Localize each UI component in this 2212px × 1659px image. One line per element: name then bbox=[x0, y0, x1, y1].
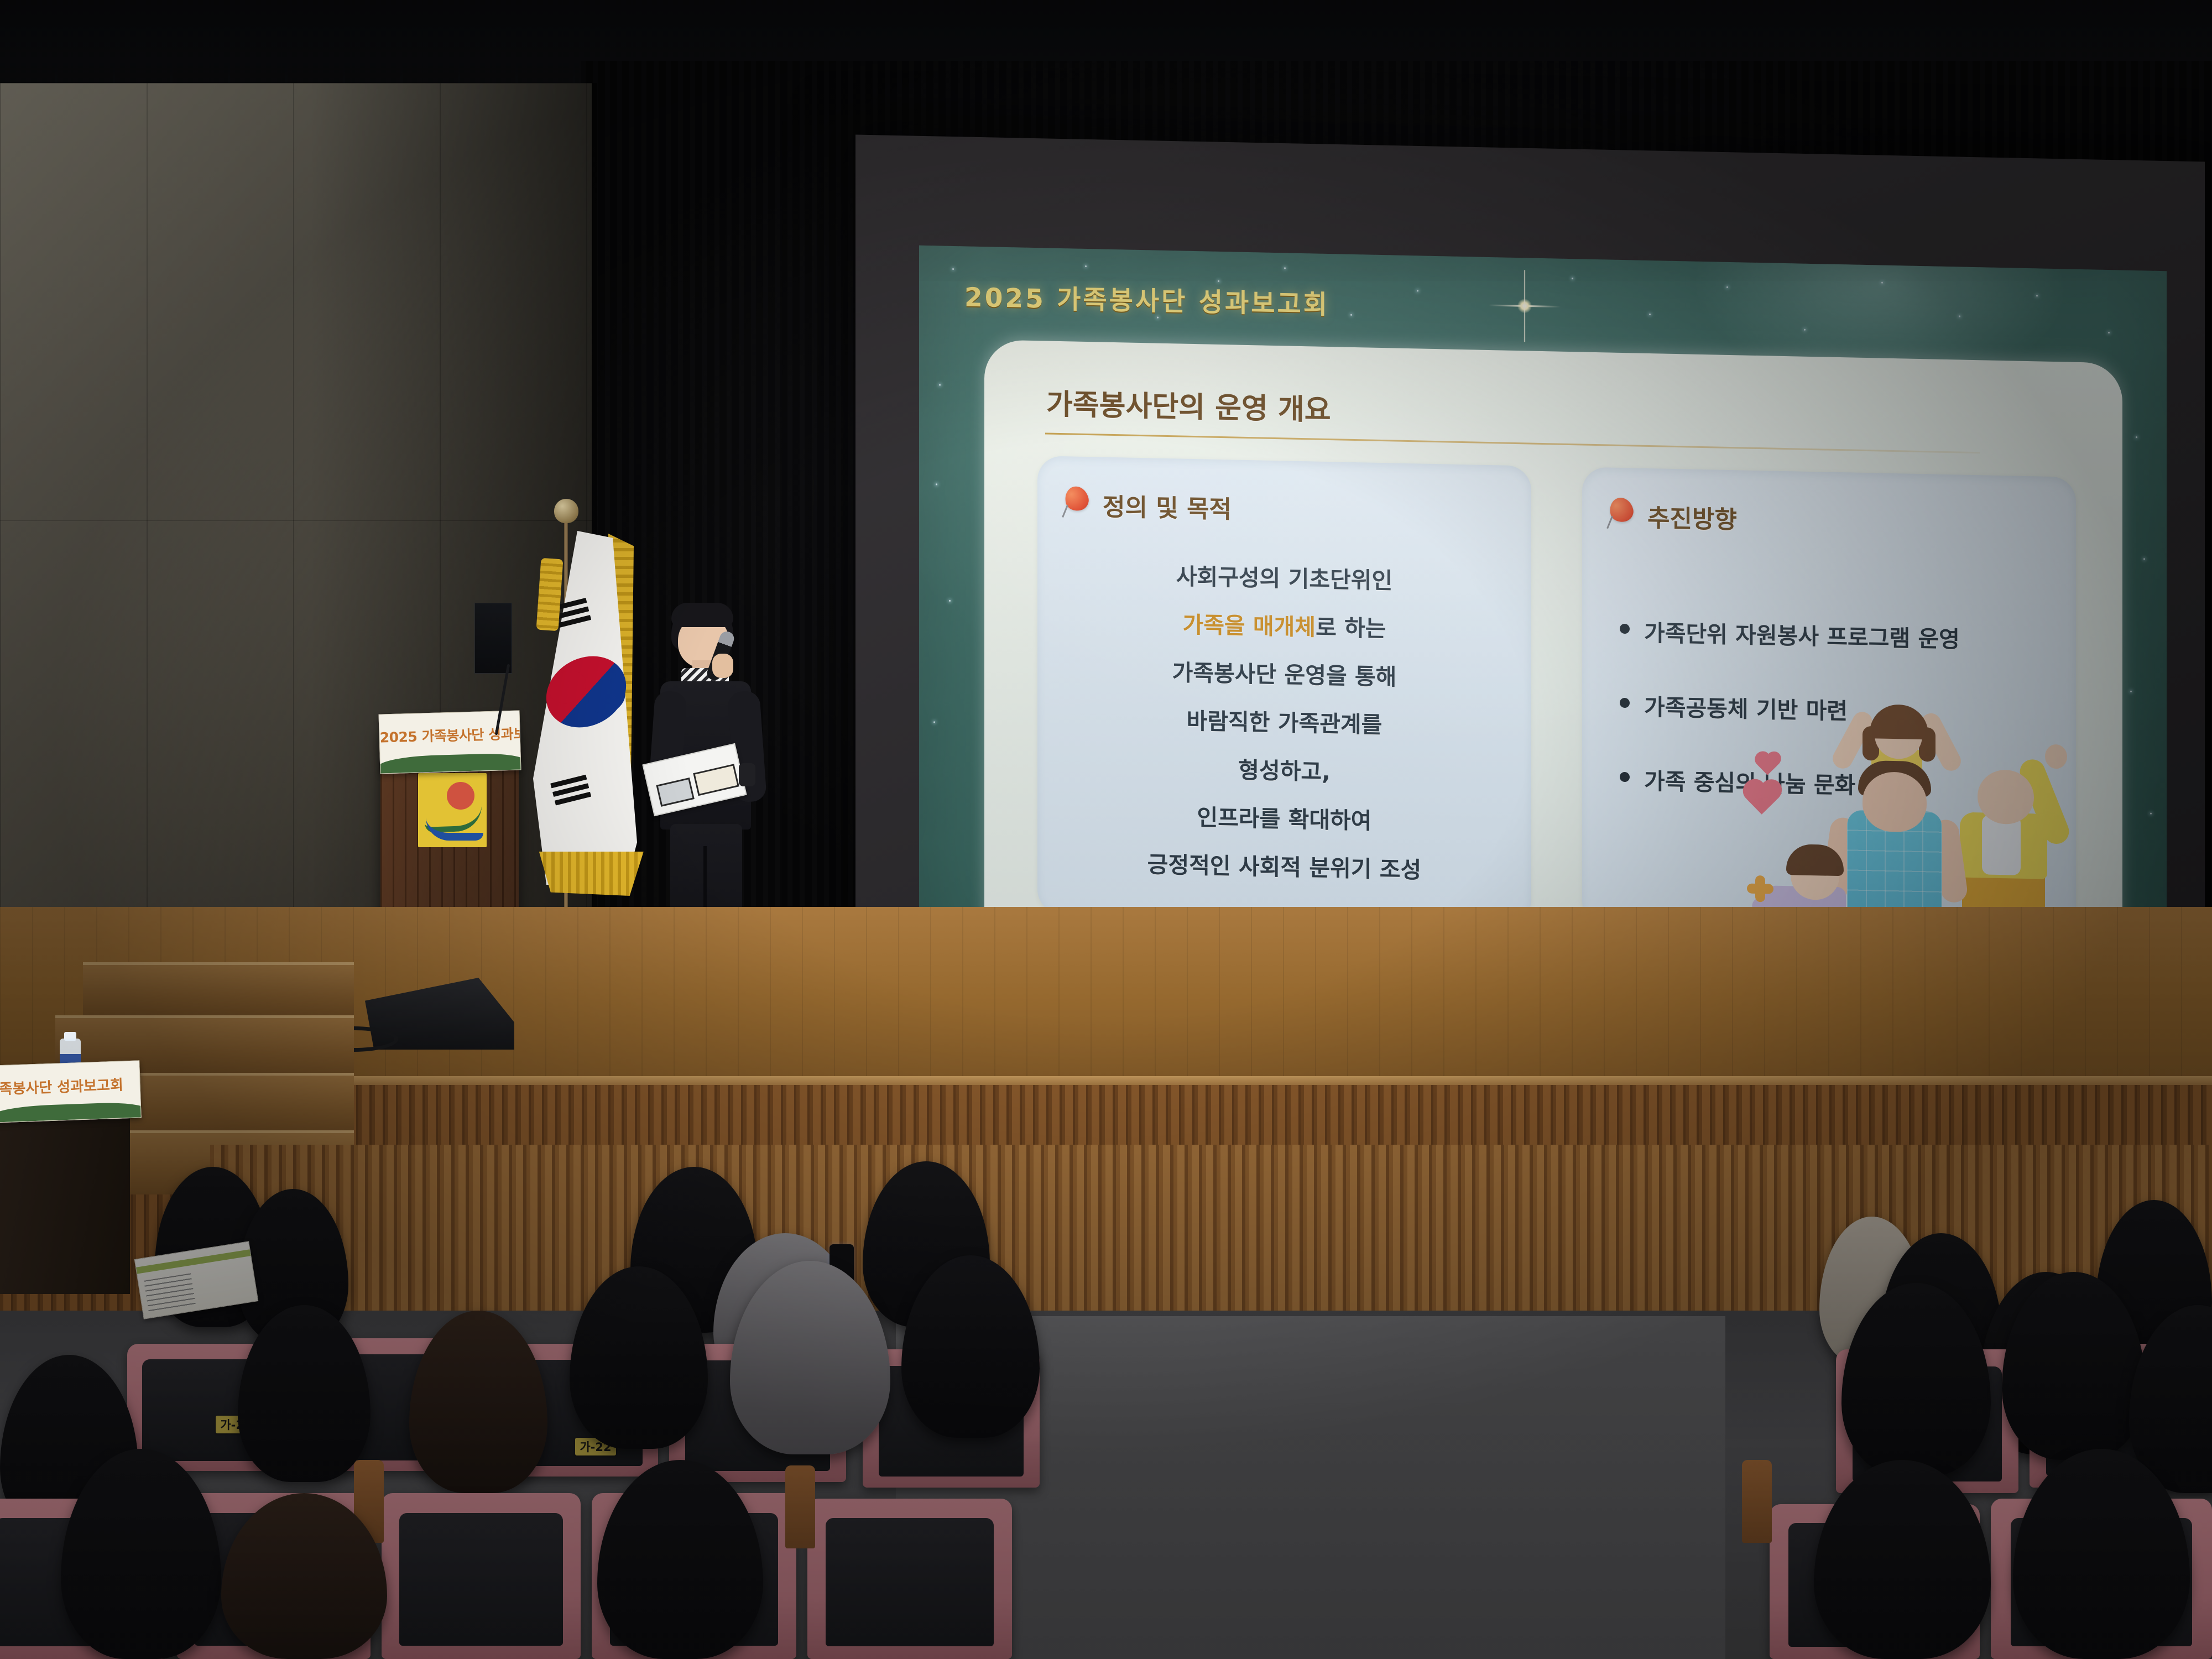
presentation-clicker bbox=[739, 763, 755, 786]
wall-panel-box bbox=[474, 603, 512, 674]
mother-shirt bbox=[1982, 815, 2021, 875]
auditorium-photo: 2025 가족봉사단 성과보고회 가족봉사단의 운영 개요 정의 및 목적 사회… bbox=[0, 0, 2212, 1659]
side-podium-banner-text: 족봉사단 성과보고회 bbox=[0, 1073, 142, 1099]
podium-emblem-plaque bbox=[418, 773, 487, 847]
pinwheel-icon bbox=[1745, 873, 1775, 904]
emblem-wave bbox=[426, 817, 483, 841]
card-definition-purpose: 정의 및 목적 사회구성의 기초단위인 가족을 매개체로 하는 가족봉사단 운영… bbox=[1037, 456, 1531, 924]
slide-section-heading: 가족봉사단의 운영 개요 bbox=[1046, 381, 1331, 429]
pushpin-icon bbox=[1606, 497, 1633, 533]
mother-head bbox=[1978, 769, 2034, 825]
slide-header-title: 2025 가족봉사단 성과보고회 bbox=[964, 275, 1329, 321]
heart-icon bbox=[1746, 783, 1778, 815]
seat[interactable] bbox=[807, 1499, 1012, 1659]
father-head bbox=[1863, 771, 1927, 832]
mother-hand bbox=[2045, 744, 2067, 769]
body-line-4: 바람직한 가족관계를 bbox=[1062, 707, 1507, 740]
sparkle-star-icon bbox=[1489, 269, 1561, 343]
family-illustration bbox=[1749, 698, 2076, 935]
slide-cards: 정의 및 목적 사회구성의 기초단위인 가족을 매개체로 하는 가족봉사단 운영… bbox=[1037, 456, 2076, 935]
armrest bbox=[785, 1465, 815, 1548]
slide-content-panel: 가족봉사단의 운영 개요 정의 및 목적 사회구성의 기초단위인 가족을 매개체… bbox=[984, 340, 2122, 961]
armrest bbox=[1742, 1460, 1772, 1543]
seat[interactable] bbox=[382, 1493, 581, 1659]
highlight-suffix: 로 하는 bbox=[1316, 614, 1386, 643]
presenter-hand bbox=[712, 654, 733, 678]
body-line-5: 형성하고, bbox=[1062, 755, 1507, 788]
projected-slide: 2025 가족봉사단 성과보고회 가족봉사단의 운영 개요 정의 및 목적 사회… bbox=[919, 246, 2167, 962]
girl-hair bbox=[1870, 704, 1928, 739]
heart-icon bbox=[1757, 754, 1779, 775]
card-header: 정의 및 목적 bbox=[1062, 486, 1507, 531]
body-line-2: 가족을 매개체로 하는 bbox=[1062, 611, 1507, 644]
body-line-3: 가족봉사단 운영을 통해 bbox=[1062, 659, 1507, 692]
list-item: 가족단위 자원봉사 프로그램 운영 bbox=[1620, 614, 2052, 656]
card-title: 추진방향 bbox=[1647, 498, 1737, 535]
heading-underline bbox=[1045, 432, 1980, 453]
flag-finial bbox=[554, 499, 578, 523]
card-title: 정의 및 목적 bbox=[1103, 487, 1232, 525]
step bbox=[83, 962, 354, 1015]
card-header: 추진방향 bbox=[1606, 497, 2052, 542]
side-podium-banner: 족봉사단 성과보고회 bbox=[0, 1060, 142, 1123]
pushpin-icon bbox=[1062, 486, 1088, 522]
card-direction: 추진방향 가족단위 자원봉사 프로그램 운영 가족공동체 기반 마련 가족 중심… bbox=[1582, 467, 2076, 935]
card-body: 사회구성의 기초단위인 가족을 매개체로 하는 가족봉사단 운영을 통해 바람직… bbox=[1062, 562, 1507, 884]
presenter-hair-front bbox=[671, 603, 733, 627]
banner-grass-graphic bbox=[379, 753, 521, 773]
body-line-7: 긍정적인 사회적 분위기 조성 bbox=[1062, 851, 1507, 884]
body-line-1: 사회구성의 기초단위인 bbox=[1062, 562, 1507, 596]
side-podium bbox=[0, 1112, 130, 1294]
highlight-text: 가족을 매개체 bbox=[1182, 612, 1316, 641]
body-line-6: 인프라를 확대하여 bbox=[1062, 803, 1507, 836]
